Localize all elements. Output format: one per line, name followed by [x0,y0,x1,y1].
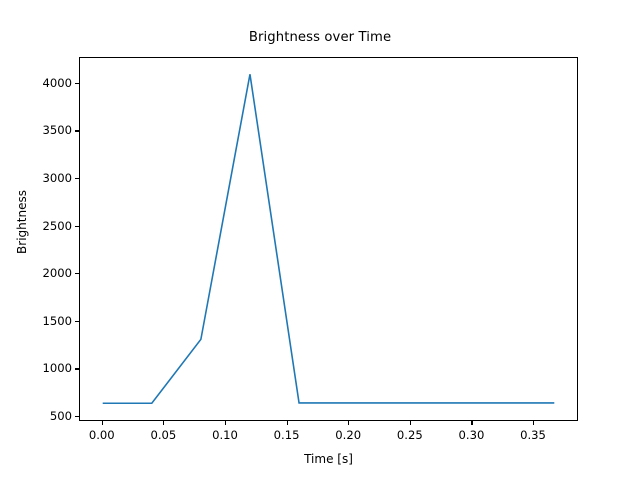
y-tick-label: 3000 [42,171,72,185]
x-tick-label: 0.35 [520,428,546,442]
x-tick-mark [163,421,164,425]
y-tick-label: 4000 [42,76,72,90]
x-tick-mark [225,421,226,425]
x-tick-mark [533,421,534,425]
x-tick-mark [287,421,288,425]
matplotlib-figure: Brightness over Time 5001000150020002500… [0,0,640,480]
x-tick-mark [102,421,103,425]
x-axis-label: Time [s] [79,452,578,466]
y-tick-label: 1000 [42,361,72,375]
y-tick-label: 500 [50,409,72,423]
y-axis-label: Brightness [15,167,29,277]
x-tick-label: 0.10 [212,428,238,442]
brightness-series-line [103,74,555,403]
line-plot [80,58,577,420]
y-tick-label: 2000 [42,266,72,280]
y-axis-tick-labels: 5001000150020002500300035004000 [0,0,72,480]
x-tick-label: 0.00 [89,428,115,442]
x-tick-label: 0.30 [459,428,485,442]
x-tick-label: 0.05 [150,428,176,442]
x-tick-label: 0.15 [274,428,300,442]
x-tick-label: 0.20 [335,428,361,442]
x-tick-mark [348,421,349,425]
x-tick-mark [410,421,411,425]
plot-axes [79,57,578,421]
y-tick-label: 1500 [42,314,72,328]
x-tick-mark [471,421,472,425]
y-tick-label: 3500 [42,123,72,137]
x-tick-label: 0.25 [397,428,423,442]
y-tick-label: 2500 [42,219,72,233]
chart-title: Brightness over Time [0,30,640,45]
